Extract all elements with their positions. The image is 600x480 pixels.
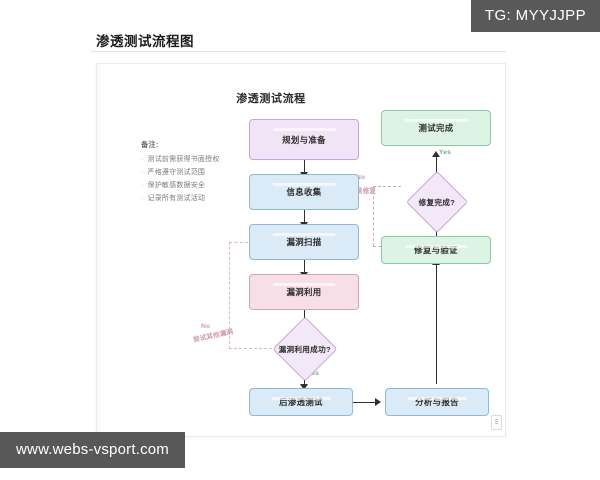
title-divider: [91, 51, 506, 52]
edge-label-dec1-no: No: [201, 323, 210, 330]
card-edge-shade: [97, 64, 103, 436]
edge-label-dec1-no-note: 尝试其他漏洞: [192, 326, 234, 344]
note-item: 记录所有测试活动: [141, 193, 249, 206]
node-placeholder-bar: [273, 233, 336, 236]
notes-heading: 备注:: [141, 140, 249, 150]
notes-block: 备注: 测试前需获得书面授权 严格遵守测试范围 保护敏感数据安全 记录所有测试活…: [141, 140, 249, 206]
node-decision-exploit-success[interactable]: 漏洞利用成功?: [272, 316, 337, 381]
edge-dec2-no-h: [373, 186, 401, 187]
resize-handle[interactable]: [491, 415, 502, 430]
node-test-complete[interactable]: 测试完成: [381, 110, 491, 146]
note-item: 测试前需获得书面授权: [141, 154, 249, 167]
node-plan[interactable]: 规划与准备: [249, 119, 359, 160]
node-decision-fix-done[interactable]: 修复完成?: [406, 171, 468, 233]
node-placeholder-bar: [273, 283, 336, 286]
node-placeholder-bar: [273, 128, 336, 131]
tg-badge: TG: MYYJJPP: [471, 0, 600, 32]
node-label: 规划与准备: [282, 134, 326, 146]
page-title: 渗透测试流程图: [96, 30, 194, 50]
node-report[interactable]: 分析与报告: [385, 388, 489, 416]
node-label: 漏洞利用成功?: [279, 344, 331, 355]
node-label: 信息收集: [286, 186, 321, 198]
edge-arrow: [375, 398, 381, 406]
edge-report-fix: [436, 264, 437, 384]
note-item: 保护敏感数据安全: [141, 180, 249, 193]
node-recon[interactable]: 信息收集: [249, 174, 359, 210]
diagram-card: 渗透测试流程 备注: 测试前需获得书面授权 严格遵守测试范围 保护敏感数据安全 …: [96, 63, 506, 437]
note-item: 严格遵守测试范围: [141, 167, 249, 180]
node-label: 修复完成?: [419, 196, 456, 207]
node-placeholder-bar: [405, 245, 468, 248]
edge-dec2-no-v: [373, 186, 374, 246]
node-label: 漏洞扫描: [286, 236, 321, 248]
node-exploit[interactable]: 漏洞利用: [249, 274, 359, 310]
node-placeholder-bar: [407, 397, 466, 400]
node-placeholder-bar: [271, 397, 330, 400]
node-post-exploit[interactable]: 后渗透测试: [249, 388, 353, 416]
diagram-title: 渗透测试流程: [157, 90, 385, 106]
node-scan[interactable]: 漏洞扫描: [249, 224, 359, 260]
node-label: 测试完成: [418, 122, 453, 134]
edge-dec1-no-h: [229, 348, 277, 349]
url-watermark-badge: www.webs-vsport.com: [0, 432, 185, 468]
node-fix-verify[interactable]: 修复与验证: [381, 236, 491, 264]
edge-post-report: [353, 402, 377, 403]
node-placeholder-bar: [273, 183, 336, 186]
node-label: 漏洞利用: [286, 286, 321, 298]
node-placeholder-bar: [405, 119, 468, 122]
edge-label-dec2-yes: Yes: [439, 149, 451, 156]
